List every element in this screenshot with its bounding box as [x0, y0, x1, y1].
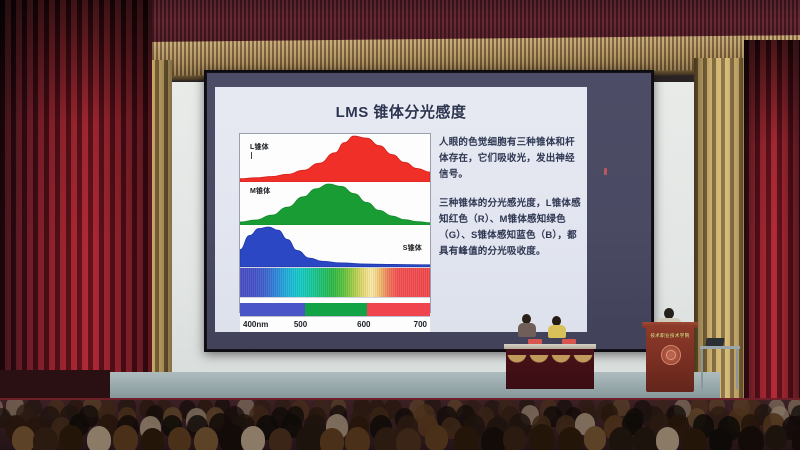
slide-paragraph-1: 人眼的色觉细胞有三种锥体和杆体存在，它们吸收光，发出神经信号。 — [439, 135, 581, 183]
audience-head — [765, 425, 787, 450]
laptop-on-side-table — [705, 338, 724, 346]
audience-seating — [0, 400, 800, 450]
audience-head — [320, 428, 344, 450]
name-card-right — [562, 339, 576, 344]
audience-head — [113, 425, 138, 450]
lecture-hall-photo: LMS 锥体分光感度 L锥体 M锥体 S锥体 — [0, 0, 800, 450]
series-label-l-cone: L锥体 — [250, 142, 269, 152]
wavelength-axis: 400nm500600700 — [240, 316, 430, 332]
audience-head — [584, 426, 606, 450]
audience-head — [194, 427, 218, 450]
slide-title: LMS 锥体分光感度 — [215, 101, 587, 122]
side-table — [700, 346, 740, 349]
audience-head — [682, 428, 707, 450]
stage-curtain-red-left — [0, 0, 152, 412]
lms-sensitivity-chart: L锥体 M锥体 S锥体 — [239, 133, 431, 313]
audience-head — [425, 425, 448, 450]
red-band — [367, 303, 430, 316]
audience-head — [59, 425, 83, 450]
stage-curtain-red-right — [744, 40, 800, 412]
audience-head — [656, 427, 679, 450]
audience-head — [87, 426, 111, 450]
audience-head — [558, 427, 583, 450]
audience-head — [345, 427, 370, 450]
audience-head — [241, 426, 265, 450]
blue-band — [240, 303, 305, 316]
green-band — [305, 303, 368, 316]
series-label-l-text: L锥体 — [250, 144, 269, 151]
axis-tick-label: 500 — [294, 320, 307, 329]
audience-head — [709, 428, 732, 450]
presentation-slide: LMS 锥体分光感度 L锥体 M锥体 S锥体 — [215, 87, 587, 332]
axis-tick-label: 600 — [357, 320, 370, 329]
axis-tick-label: 400nm — [243, 320, 268, 329]
chart-row-s-cone: S锥体 — [240, 225, 430, 267]
slide-paragraph-2: 三种锥体的分光感光度，L锥体感知红色（R）、M锥体感知绿色（G）、S锥体感知蓝色… — [439, 196, 581, 260]
podium-emblem-icon — [661, 345, 681, 365]
series-label-m-cone: M锥体 — [250, 186, 270, 196]
audience-head — [269, 428, 292, 450]
visible-spectrum-bar — [240, 267, 430, 298]
s-cone-curve — [240, 225, 430, 267]
audience-head — [738, 426, 764, 450]
audience-head — [529, 424, 555, 450]
audience-head — [12, 426, 35, 450]
audience-head — [33, 427, 58, 450]
audience-head — [396, 428, 421, 450]
audience-head — [503, 426, 526, 450]
audience-head — [141, 428, 164, 450]
chart-row-l-cone: L锥体 — [240, 134, 430, 182]
rgb-band-bar — [240, 303, 430, 316]
audience-head — [633, 427, 657, 450]
table-skirt-trim — [506, 355, 594, 369]
podium-inscription: 技术职业技术学院 — [648, 333, 692, 339]
audience-head — [454, 426, 479, 450]
audience-head — [168, 427, 191, 450]
slide-body-text: 人眼的色觉细胞有三种锥体和杆体存在，它们吸收光，发出神经信号。 三种锥体的分光感… — [439, 135, 581, 273]
laser-pointer-dot — [604, 168, 607, 175]
series-label-s-cone: S锥体 — [403, 243, 422, 253]
audience-head — [609, 427, 633, 450]
name-card-left — [528, 339, 542, 344]
axis-tick-mark — [251, 152, 252, 159]
chart-row-m-cone: M锥体 — [240, 182, 430, 225]
audience-head — [296, 425, 322, 450]
presenters-table — [504, 330, 596, 392]
axis-tick-label: 700 — [414, 320, 427, 329]
